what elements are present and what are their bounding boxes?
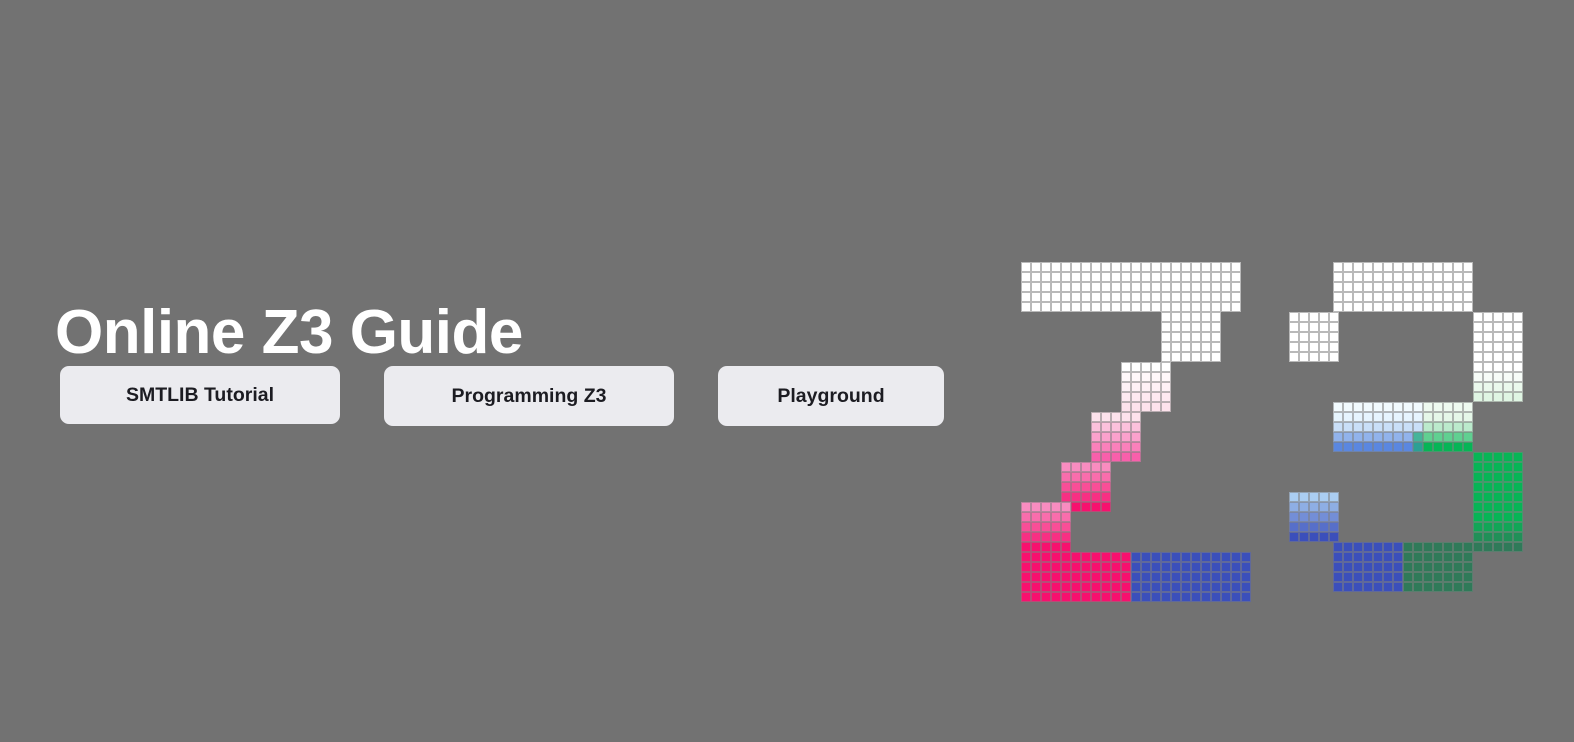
logo-pixel-cell — [1191, 352, 1201, 362]
logo-pixel-cell — [1121, 302, 1131, 312]
logo-pixel-cell — [1309, 532, 1319, 542]
logo-pixel-cell — [1319, 502, 1329, 512]
logo-pixel-cell — [1393, 582, 1403, 592]
logo-pixel-cell — [1289, 512, 1299, 522]
logo-pixel-cell — [1353, 282, 1363, 292]
logo-pixel-cell — [1091, 482, 1101, 492]
logo-pixel-cell — [1289, 532, 1299, 542]
logo-pixel-cell — [1513, 352, 1523, 362]
logo-pixel-cell — [1373, 442, 1383, 452]
logo-pixel-cell — [1081, 552, 1091, 562]
logo-pixel-cell — [1221, 572, 1231, 582]
logo-pixel-cell — [1413, 282, 1423, 292]
logo-pixel-cell — [1453, 412, 1463, 422]
logo-pixel-cell — [1091, 582, 1101, 592]
logo-pixel-cell — [1309, 522, 1319, 532]
logo-pixel-cell — [1161, 362, 1171, 372]
logo-pixel-cell — [1433, 542, 1443, 552]
logo-pixel-cell — [1299, 502, 1309, 512]
logo-pixel-cell — [1191, 562, 1201, 572]
logo-pixel-cell — [1453, 402, 1463, 412]
logo-pixel-cell — [1463, 262, 1473, 272]
logo-pixel-cell — [1473, 332, 1483, 342]
logo-pixel-cell — [1433, 582, 1443, 592]
logo-pixel-cell — [1353, 402, 1363, 412]
logo-pixel-block — [1161, 312, 1221, 362]
logo-pixel-cell — [1111, 572, 1121, 582]
logo-pixel-cell — [1061, 512, 1071, 522]
logo-pixel-cell — [1383, 272, 1393, 282]
logo-pixel-cell — [1071, 582, 1081, 592]
logo-pixel-cell — [1403, 552, 1413, 562]
logo-pixel-cell — [1061, 282, 1071, 292]
logo-pixel-cell — [1423, 422, 1433, 432]
logo-pixel-cell — [1483, 332, 1493, 342]
logo-pixel-cell — [1201, 312, 1211, 322]
logo-pixel-cell — [1111, 552, 1121, 562]
logo-pixel-cell — [1151, 262, 1161, 272]
logo-pixel-cell — [1081, 282, 1091, 292]
logo-pixel-cell — [1211, 302, 1221, 312]
logo-pixel-cell — [1353, 292, 1363, 302]
logo-pixel-cell — [1363, 552, 1373, 562]
logo-pixel-cell — [1343, 412, 1353, 422]
logo-pixel-cell — [1319, 352, 1329, 362]
logo-pixel-cell — [1423, 552, 1433, 562]
logo-pixel-cell — [1413, 262, 1423, 272]
logo-pixel-cell — [1131, 292, 1141, 302]
logo-pixel-cell — [1433, 262, 1443, 272]
logo-pixel-cell — [1363, 422, 1373, 432]
logo-pixel-cell — [1503, 332, 1513, 342]
logo-pixel-cell — [1333, 292, 1343, 302]
logo-pixel-cell — [1141, 582, 1151, 592]
logo-pixel-cell — [1061, 272, 1071, 282]
logo-pixel-cell — [1081, 502, 1091, 512]
logo-pixel-cell — [1423, 272, 1433, 282]
logo-pixel-cell — [1463, 432, 1473, 442]
logo-pixel-cell — [1131, 382, 1141, 392]
logo-pixel-cell — [1423, 302, 1433, 312]
logo-pixel-cell — [1319, 532, 1329, 542]
logo-pixel-cell — [1221, 272, 1231, 282]
logo-pixel-cell — [1111, 292, 1121, 302]
logo-pixel-cell — [1299, 522, 1309, 532]
logo-pixel-cell — [1353, 412, 1363, 422]
logo-pixel-cell — [1383, 292, 1393, 302]
logo-pixel-cell — [1413, 572, 1423, 582]
logo-pixel-cell — [1513, 322, 1523, 332]
logo-pixel-cell — [1473, 532, 1483, 542]
logo-pixel-cell — [1161, 592, 1171, 602]
logo-pixel-cell — [1131, 282, 1141, 292]
logo-pixel-cell — [1473, 542, 1483, 552]
logo-pixel-cell — [1473, 482, 1483, 492]
logo-pixel-cell — [1041, 282, 1051, 292]
logo-pixel-cell — [1101, 462, 1111, 472]
logo-pixel-block — [1091, 412, 1141, 462]
logo-pixel-cell — [1483, 522, 1493, 532]
logo-pixel-cell — [1121, 432, 1131, 442]
logo-pixel-cell — [1181, 562, 1191, 572]
logo-pixel-block — [1333, 262, 1473, 312]
logo-pixel-cell — [1329, 522, 1339, 532]
logo-pixel-cell — [1101, 592, 1111, 602]
logo-pixel-cell — [1191, 312, 1201, 322]
logo-pixel-cell — [1373, 402, 1383, 412]
logo-pixel-block — [1473, 312, 1523, 402]
logo-pixel-cell — [1141, 402, 1151, 412]
logo-pixel-cell — [1031, 522, 1041, 532]
logo-pixel-cell — [1319, 322, 1329, 332]
logo-pixel-cell — [1131, 362, 1141, 372]
logo-pixel-cell — [1483, 352, 1493, 362]
logo-pixel-cell — [1181, 312, 1191, 322]
logo-pixel-cell — [1211, 282, 1221, 292]
logo-pixel-cell — [1161, 302, 1171, 312]
logo-pixel-block — [1121, 362, 1171, 412]
logo-pixel-cell — [1493, 462, 1503, 472]
logo-pixel-cell — [1171, 352, 1181, 362]
logo-pixel-cell — [1231, 262, 1241, 272]
logo-pixel-cell — [1101, 442, 1111, 452]
logo-pixel-cell — [1091, 492, 1101, 502]
logo-pixel-cell — [1031, 302, 1041, 312]
logo-pixel-cell — [1061, 502, 1071, 512]
logo-pixel-cell — [1423, 542, 1433, 552]
logo-pixel-cell — [1289, 322, 1299, 332]
logo-pixel-cell — [1403, 262, 1413, 272]
logo-pixel-cell — [1081, 272, 1091, 282]
logo-pixel-cell — [1091, 262, 1101, 272]
logo-pixel-cell — [1513, 372, 1523, 382]
logo-pixel-cell — [1473, 312, 1483, 322]
logo-pixel-cell — [1231, 272, 1241, 282]
logo-pixel-cell — [1201, 332, 1211, 342]
logo-pixel-cell — [1329, 502, 1339, 512]
logo-pixel-cell — [1329, 322, 1339, 332]
logo-pixel-cell — [1329, 332, 1339, 342]
logo-pixel-cell — [1423, 292, 1433, 302]
logo-pixel-cell — [1493, 482, 1503, 492]
logo-pixel-cell — [1091, 272, 1101, 282]
logo-pixel-cell — [1191, 272, 1201, 282]
logo-pixel-cell — [1403, 292, 1413, 302]
logo-pixel-cell — [1101, 582, 1111, 592]
logo-pixel-cell — [1121, 592, 1131, 602]
logo-pixel-cell — [1513, 472, 1523, 482]
logo-pixel-cell — [1101, 302, 1111, 312]
logo-pixel-cell — [1373, 422, 1383, 432]
logo-pixel-cell — [1031, 582, 1041, 592]
logo-pixel-cell — [1131, 562, 1141, 572]
logo-pixel-cell — [1333, 442, 1343, 452]
logo-pixel-cell — [1221, 592, 1231, 602]
logo-pixel-cell — [1121, 572, 1131, 582]
logo-pixel-cell — [1373, 582, 1383, 592]
logo-pixel-cell — [1101, 482, 1111, 492]
logo-pixel-cell — [1091, 412, 1101, 422]
logo-pixel-cell — [1309, 502, 1319, 512]
logo-pixel-cell — [1373, 542, 1383, 552]
logo-pixel-cell — [1483, 372, 1493, 382]
logo-pixel-cell — [1231, 302, 1241, 312]
logo-pixel-cell — [1309, 312, 1319, 322]
logo-pixel-cell — [1031, 552, 1041, 562]
logo-pixel-cell — [1483, 532, 1493, 542]
logo-pixel-cell — [1343, 552, 1353, 562]
logo-pixel-cell — [1413, 442, 1423, 452]
logo-pixel-cell — [1151, 392, 1161, 402]
logo-pixel-cell — [1289, 342, 1299, 352]
logo-pixel-cell — [1493, 342, 1503, 352]
logo-pixel-cell — [1413, 402, 1423, 412]
logo-pixel-cell — [1191, 302, 1201, 312]
logo-pixel-cell — [1363, 562, 1373, 572]
logo-pixel-cell — [1181, 302, 1191, 312]
logo-pixel-cell — [1493, 492, 1503, 502]
logo-pixel-cell — [1503, 352, 1513, 362]
logo-pixel-cell — [1289, 352, 1299, 362]
logo-pixel-cell — [1181, 342, 1191, 352]
logo-pixel-cell — [1081, 562, 1091, 572]
logo-pixel-cell — [1151, 282, 1161, 292]
logo-pixel-cell — [1443, 582, 1453, 592]
logo-pixel-cell — [1343, 302, 1353, 312]
logo-pixel-cell — [1231, 282, 1241, 292]
logo-pixel-cell — [1191, 292, 1201, 302]
logo-pixel-cell — [1289, 492, 1299, 502]
logo-pixel-cell — [1201, 292, 1211, 302]
logo-pixel-cell — [1061, 572, 1071, 582]
logo-pixel-cell — [1473, 322, 1483, 332]
logo-pixel-cell — [1021, 272, 1031, 282]
logo-pixel-cell — [1161, 272, 1171, 282]
logo-pixel-cell — [1061, 472, 1071, 482]
logo-pixel-cell — [1051, 562, 1061, 572]
logo-pixel-cell — [1433, 272, 1443, 282]
logo-pixel-cell — [1299, 342, 1309, 352]
logo-pixel-cell — [1141, 272, 1151, 282]
logo-pixel-cell — [1423, 582, 1433, 592]
logo-pixel-cell — [1171, 282, 1181, 292]
logo-pixel-cell — [1161, 312, 1171, 322]
logo-pixel-block — [1423, 402, 1473, 452]
logo-pixel-cell — [1353, 302, 1363, 312]
logo-pixel-cell — [1101, 262, 1111, 272]
logo-pixel-cell — [1503, 322, 1513, 332]
logo-pixel-cell — [1141, 572, 1151, 582]
logo-pixel-cell — [1171, 292, 1181, 302]
logo-pixel-cell — [1353, 562, 1363, 572]
logo-pixel-cell — [1493, 332, 1503, 342]
logo-pixel-cell — [1413, 422, 1423, 432]
logo-pixel-cell — [1343, 262, 1353, 272]
logo-pixel-cell — [1289, 332, 1299, 342]
logo-pixel-cell — [1513, 532, 1523, 542]
logo-pixel-cell — [1309, 492, 1319, 502]
logo-pixel-cell — [1191, 592, 1201, 602]
logo-pixel-cell — [1191, 262, 1201, 272]
logo-pixel-cell — [1151, 272, 1161, 282]
logo-pixel-block — [1021, 552, 1131, 602]
logo-pixel-cell — [1021, 292, 1031, 302]
logo-pixel-cell — [1091, 592, 1101, 602]
smtlib-tutorial-button[interactable]: SMTLIB Tutorial — [60, 366, 340, 424]
logo-pixel-cell — [1061, 462, 1071, 472]
logo-pixel-cell — [1433, 422, 1443, 432]
logo-pixel-cell — [1463, 552, 1473, 562]
logo-pixel-cell — [1111, 282, 1121, 292]
logo-pixel-cell — [1201, 552, 1211, 562]
logo-pixel-cell — [1171, 322, 1181, 332]
logo-pixel-cell — [1041, 582, 1051, 592]
logo-pixel-cell — [1101, 292, 1111, 302]
logo-pixel-cell — [1161, 342, 1171, 352]
logo-pixel-cell — [1111, 442, 1121, 452]
logo-pixel-cell — [1021, 302, 1031, 312]
logo-pixel-cell — [1493, 382, 1503, 392]
logo-pixel-cell — [1319, 492, 1329, 502]
logo-pixel-cell — [1443, 552, 1453, 562]
logo-pixel-cell — [1383, 422, 1393, 432]
logo-pixel-cell — [1319, 512, 1329, 522]
logo-pixel-cell — [1091, 432, 1101, 442]
logo-pixel-cell — [1141, 362, 1151, 372]
logo-pixel-cell — [1403, 282, 1413, 292]
page-title: Online Z3 Guide — [55, 300, 523, 365]
logo-pixel-cell — [1081, 572, 1091, 582]
logo-pixel-cell — [1201, 592, 1211, 602]
logo-pixel-cell — [1413, 552, 1423, 562]
logo-pixel-cell — [1363, 572, 1373, 582]
logo-pixel-cell — [1081, 302, 1091, 312]
logo-pixel-cell — [1383, 402, 1393, 412]
logo-pixel-cell — [1513, 542, 1523, 552]
logo-pixel-cell — [1191, 582, 1201, 592]
logo-pixel-cell — [1111, 432, 1121, 442]
logo-pixel-cell — [1483, 512, 1493, 522]
logo-pixel-cell — [1453, 292, 1463, 302]
logo-pixel-cell — [1363, 582, 1373, 592]
logo-pixel-cell — [1329, 532, 1339, 542]
logo-pixel-cell — [1363, 402, 1373, 412]
logo-pixel-cell — [1413, 542, 1423, 552]
logo-pixel-cell — [1181, 292, 1191, 302]
logo-pixel-cell — [1091, 422, 1101, 432]
logo-pixel-cell — [1051, 292, 1061, 302]
logo-pixel-cell — [1433, 442, 1443, 452]
logo-pixel-cell — [1111, 412, 1121, 422]
logo-pixel-cell — [1111, 592, 1121, 602]
logo-pixel-cell — [1211, 342, 1221, 352]
logo-pixel-block — [1289, 492, 1339, 542]
logo-pixel-cell — [1211, 552, 1221, 562]
logo-pixel-cell — [1363, 292, 1373, 302]
logo-pixel-cell — [1383, 442, 1393, 452]
logo-pixel-cell — [1403, 572, 1413, 582]
logo-pixel-cell — [1483, 482, 1493, 492]
logo-pixel-cell — [1503, 362, 1513, 372]
logo-pixel-cell — [1191, 322, 1201, 332]
logo-pixel-cell — [1473, 462, 1483, 472]
logo-pixel-cell — [1453, 572, 1463, 582]
logo-pixel-cell — [1081, 262, 1091, 272]
logo-pixel-cell — [1309, 342, 1319, 352]
logo-pixel-block — [1333, 402, 1423, 452]
logo-pixel-cell — [1121, 422, 1131, 432]
logo-pixel-cell — [1483, 502, 1493, 512]
logo-pixel-cell — [1071, 492, 1081, 502]
logo-pixel-cell — [1333, 582, 1343, 592]
logo-pixel-cell — [1383, 282, 1393, 292]
logo-pixel-cell — [1061, 302, 1071, 312]
logo-pixel-cell — [1333, 272, 1343, 282]
logo-pixel-cell — [1473, 472, 1483, 482]
logo-pixel-cell — [1403, 562, 1413, 572]
logo-pixel-cell — [1171, 332, 1181, 342]
logo-pixel-cell — [1021, 282, 1031, 292]
logo-pixel-cell — [1121, 272, 1131, 282]
logo-pixel-cell — [1151, 592, 1161, 602]
logo-pixel-cell — [1161, 552, 1171, 562]
logo-pixel-cell — [1241, 572, 1251, 582]
programming-z3-button[interactable]: Programming Z3 — [384, 366, 674, 426]
logo-pixel-cell — [1171, 272, 1181, 282]
logo-pixel-cell — [1353, 442, 1363, 452]
logo-pixel-cell — [1403, 582, 1413, 592]
logo-pixel-cell — [1463, 422, 1473, 432]
logo-pixel-cell — [1141, 302, 1151, 312]
logo-pixel-cell — [1363, 302, 1373, 312]
logo-pixel-cell — [1443, 292, 1453, 302]
logo-pixel-cell — [1493, 542, 1503, 552]
logo-pixel-cell — [1171, 262, 1181, 272]
logo-pixel-cell — [1191, 572, 1201, 582]
logo-pixel-cell — [1363, 432, 1373, 442]
logo-pixel-cell — [1091, 452, 1101, 462]
logo-pixel-cell — [1403, 422, 1413, 432]
logo-pixel-cell — [1191, 342, 1201, 352]
logo-pixel-cell — [1041, 592, 1051, 602]
logo-pixel-cell — [1121, 292, 1131, 302]
logo-pixel-cell — [1071, 562, 1081, 572]
logo-pixel-cell — [1493, 352, 1503, 362]
logo-pixel-cell — [1091, 572, 1101, 582]
logo-pixel-cell — [1181, 322, 1191, 332]
logo-pixel-cell — [1373, 282, 1383, 292]
logo-pixel-cell — [1091, 292, 1101, 302]
playground-button[interactable]: Playground — [718, 366, 944, 426]
logo-pixel-cell — [1131, 432, 1141, 442]
logo-pixel-cell — [1221, 262, 1231, 272]
logo-pixel-cell — [1081, 472, 1091, 482]
logo-pixel-cell — [1091, 472, 1101, 482]
logo-pixel-cell — [1221, 302, 1231, 312]
logo-pixel-cell — [1201, 282, 1211, 292]
logo-pixel-cell — [1289, 502, 1299, 512]
logo-pixel-cell — [1423, 282, 1433, 292]
logo-pixel-cell — [1171, 342, 1181, 352]
logo-pixel-cell — [1071, 292, 1081, 302]
logo-pixel-cell — [1433, 402, 1443, 412]
logo-pixel-cell — [1071, 592, 1081, 602]
logo-pixel-cell — [1051, 262, 1061, 272]
logo-pixel-cell — [1453, 582, 1463, 592]
logo-pixel-cell — [1191, 332, 1201, 342]
logo-pixel-cell — [1343, 422, 1353, 432]
logo-pixel-cell — [1231, 552, 1241, 562]
